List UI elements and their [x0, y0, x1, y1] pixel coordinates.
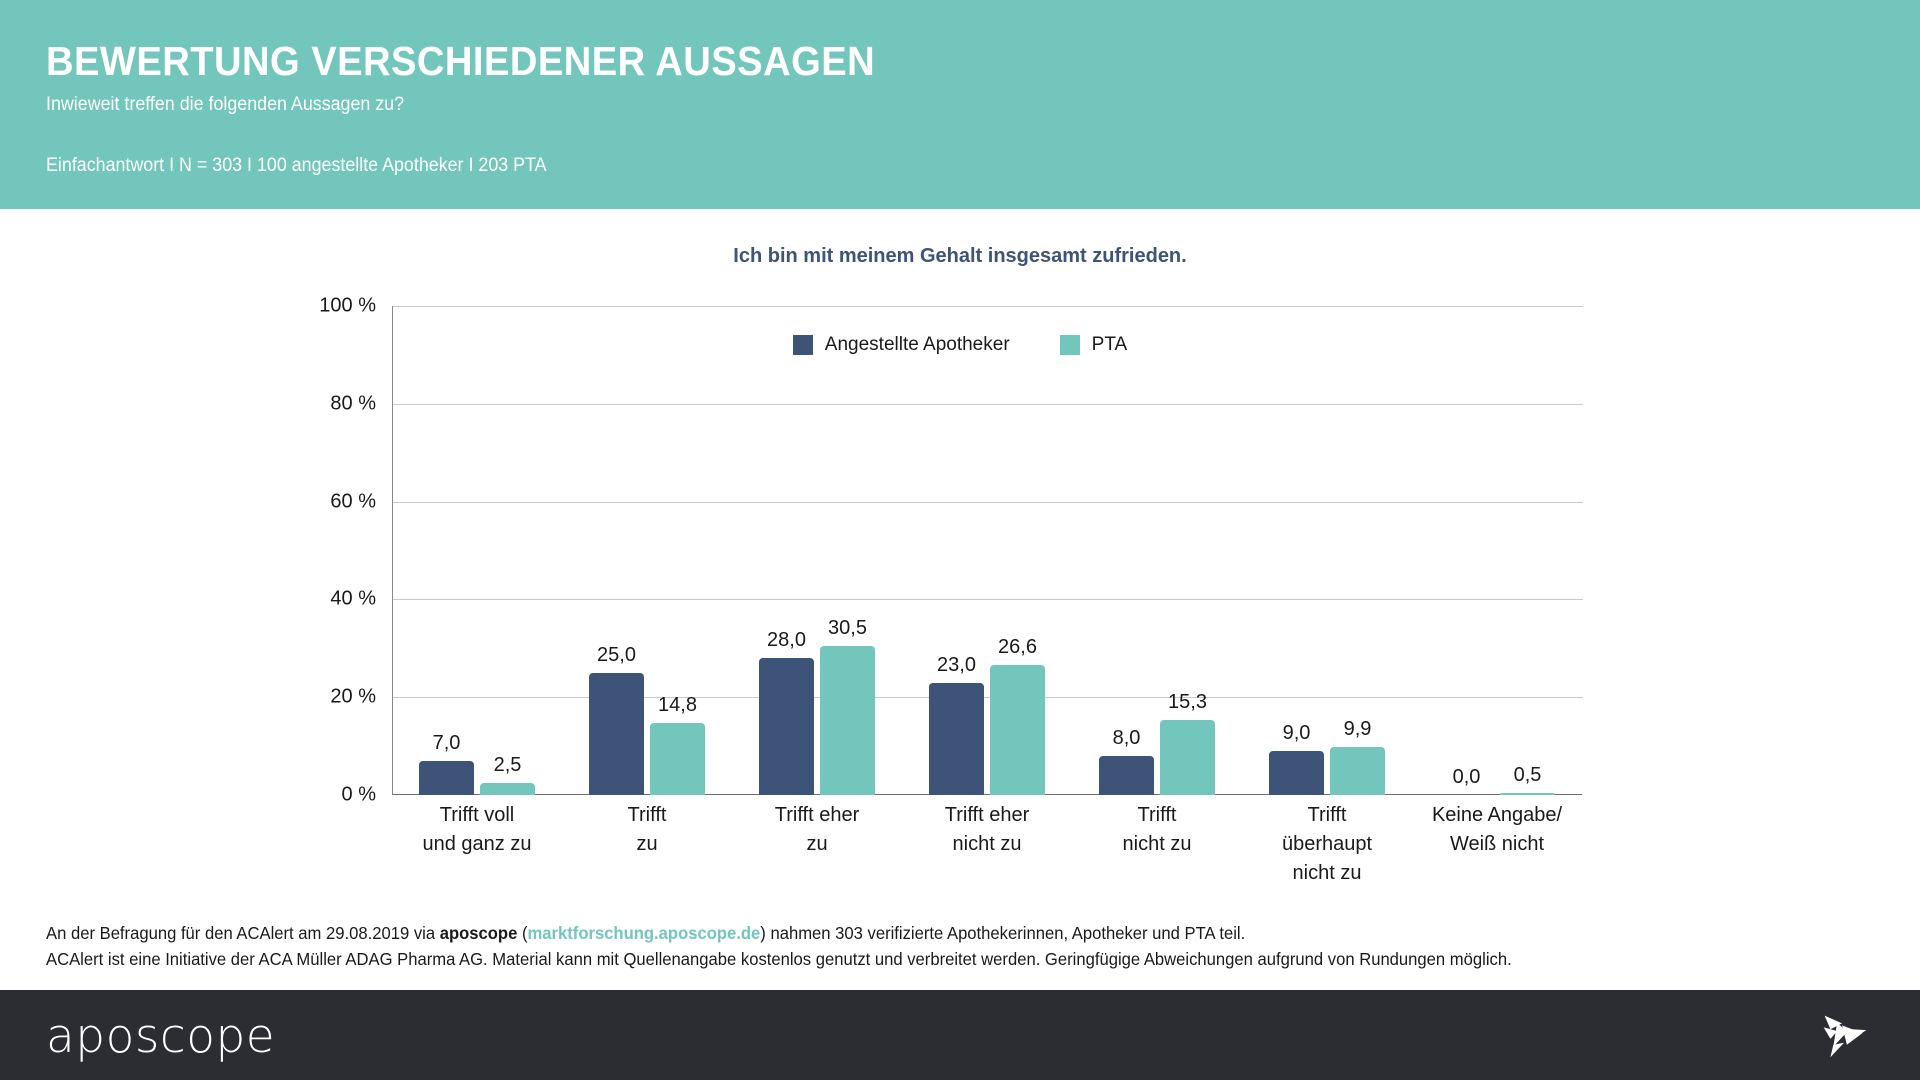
- bar[interactable]: [1099, 756, 1154, 795]
- y-axis-ticks: 100 %80 %60 %40 %20 %0 %: [296, 306, 376, 795]
- footnote-text-1: An der Befragung für den ACAlert am 29.0…: [46, 923, 440, 943]
- bar[interactable]: [1330, 747, 1385, 795]
- bar-value-label: 25,0: [562, 644, 672, 667]
- y-axis-tick-label: 100 %: [296, 295, 376, 318]
- bar[interactable]: [1269, 751, 1324, 795]
- bar[interactable]: [650, 723, 705, 795]
- y-axis-tick-label: 60 %: [296, 490, 376, 513]
- chart-title: Ich bin mit meinem Gehalt insgesamt zufr…: [0, 245, 1920, 268]
- bar[interactable]: [1500, 793, 1555, 795]
- bar[interactable]: [1160, 720, 1215, 795]
- bar-value-label: 26,6: [963, 636, 1073, 659]
- bar[interactable]: [990, 665, 1045, 795]
- chart-container: Ich bin mit meinem Gehalt insgesamt zufr…: [0, 209, 1920, 909]
- page-header: BEWERTUNG VERSCHIEDENER AUSSAGEN Inwiewe…: [0, 0, 1920, 209]
- bar-value-label: 2,5: [453, 754, 563, 777]
- footnote-line-2: ACAlert ist eine Initiative der ACA Müll…: [46, 946, 1794, 972]
- x-axis-category-label: Trifftzu: [557, 801, 737, 859]
- bar-value-label: 30,5: [793, 617, 903, 640]
- bar-value-label: 15,3: [1133, 691, 1243, 714]
- x-axis-category-label: Trifft ehernicht zu: [897, 801, 1077, 859]
- bar-value-label: 9,9: [1303, 718, 1413, 741]
- bar[interactable]: [480, 783, 535, 795]
- x-axis-category-label: Trifft eherzu: [727, 801, 907, 859]
- x-axis-category-label: Trifftüberhauptnicht zu: [1237, 801, 1417, 888]
- footnote-link[interactable]: marktforschung.aposcope.de: [528, 923, 761, 943]
- bar-value-label: 14,8: [623, 694, 733, 717]
- x-axis-category-label: Keine Angabe/Weiß nicht: [1407, 801, 1587, 859]
- origami-bird-icon: [1812, 1004, 1874, 1066]
- y-axis-tick-label: 80 %: [296, 392, 376, 415]
- y-axis-tick-label: 20 %: [296, 686, 376, 709]
- bar[interactable]: [820, 646, 875, 795]
- y-axis-tick-label: 40 %: [296, 588, 376, 611]
- y-axis-tick-label: 0 %: [296, 784, 376, 807]
- bar[interactable]: [759, 658, 814, 795]
- page-subtitle: Inwieweit treffen die folgenden Aussagen…: [46, 94, 404, 116]
- x-axis-category-label: Trifftnicht zu: [1067, 801, 1247, 859]
- footnote-brand: aposcope: [440, 923, 518, 943]
- bar-value-label: 7,0: [392, 732, 502, 755]
- x-axis-labels: Trifft vollund ganz zuTrifftzuTrifft ehe…: [392, 801, 1582, 901]
- bottom-bar: aposcope: [0, 990, 1920, 1080]
- footnote-text-3: ) nahmen 303 verifizierte Apothekerinnen…: [760, 923, 1245, 943]
- page-title: BEWERTUNG VERSCHIEDENER AUSSAGEN: [46, 38, 875, 85]
- footnote: An der Befragung für den ACAlert am 29.0…: [46, 920, 1794, 972]
- aposcope-logo-text: aposcope: [46, 1009, 275, 1064]
- x-axis-category-label: Trifft vollund ganz zu: [387, 801, 567, 859]
- footnote-line-1: An der Befragung für den ACAlert am 29.0…: [46, 920, 1794, 946]
- survey-meta: Einfachantwort I N = 303 I 100 angestell…: [46, 155, 547, 177]
- bar[interactable]: [589, 673, 644, 795]
- chart-page: BEWERTUNG VERSCHIEDENER AUSSAGEN Inwiewe…: [0, 0, 1920, 1080]
- footnote-text-2: (: [517, 923, 527, 943]
- bar[interactable]: [929, 683, 984, 795]
- bars-layer: 7,02,525,014,828,030,523,026,68,015,39,0…: [392, 306, 1582, 795]
- bar-value-label: 0,5: [1473, 764, 1583, 787]
